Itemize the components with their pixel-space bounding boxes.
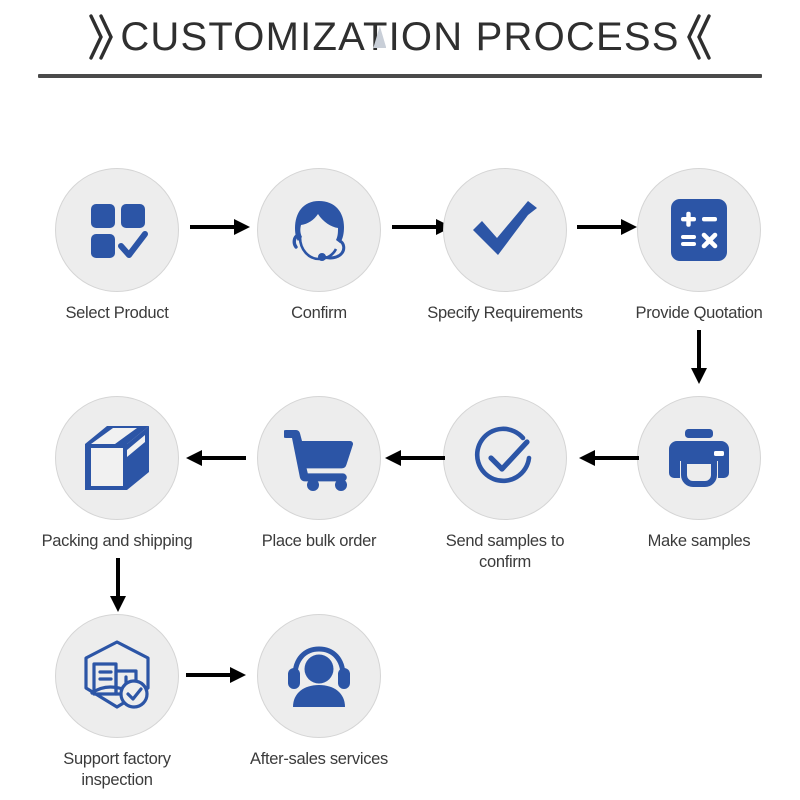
flow-step-packing-and-shipping[interactable]: Packing and shipping — [32, 396, 202, 552]
step-label: Provide Quotation — [614, 303, 784, 324]
step-icon-bubble — [55, 168, 179, 292]
process-flow-diagram: Select Product Confirm — [0, 0, 800, 800]
step-label: Make samples — [614, 531, 784, 552]
step-icon-bubble — [55, 396, 179, 520]
package-box-icon — [81, 424, 153, 492]
flow-step-specify-requirements[interactable]: Specify Requirements — [420, 168, 590, 324]
step-label: Confirm — [234, 303, 404, 324]
connector-arrow-down — [688, 330, 710, 386]
flow-step-confirm[interactable]: Confirm — [234, 168, 404, 324]
step-icon-bubble — [637, 168, 761, 292]
step-label: Send samples to confirm — [420, 531, 590, 573]
step-label: Specify Requirements — [420, 303, 590, 324]
step-icon-bubble — [257, 168, 381, 292]
step-icon-bubble — [443, 168, 567, 292]
flow-step-support-factory-inspection[interactable]: Support factory inspection — [32, 614, 202, 791]
shopping-cart-icon — [284, 425, 354, 491]
step-icon-bubble — [443, 396, 567, 520]
step-icon-bubble — [257, 396, 381, 520]
step-label: Support factory inspection — [32, 749, 202, 791]
step-label: Packing and shipping — [32, 531, 202, 552]
flow-step-make-samples[interactable]: Make samples — [614, 396, 784, 552]
step-label: Place bulk order — [234, 531, 404, 552]
step-icon-bubble — [55, 614, 179, 738]
step-icon-bubble — [637, 396, 761, 520]
flow-step-provide-quotation[interactable]: Provide Quotation — [614, 168, 784, 324]
step-icon-bubble — [257, 614, 381, 738]
connector-arrow-down — [107, 558, 129, 614]
flow-step-after-sales-services[interactable]: After-sales services — [234, 614, 404, 770]
factory-shield-check-icon — [80, 639, 154, 713]
checkmark-icon — [470, 199, 540, 261]
headset-agent-icon — [286, 197, 352, 263]
circle-check-icon — [469, 422, 541, 494]
flow-step-send-samples-to-confirm[interactable]: Send samples to confirm — [420, 396, 590, 573]
support-person-icon — [282, 643, 356, 709]
printer-icon — [664, 427, 734, 489]
grid-squares-check-icon — [85, 198, 149, 262]
flow-step-select-product[interactable]: Select Product — [32, 168, 202, 324]
step-label: After-sales services — [234, 749, 404, 770]
flow-step-place-bulk-order[interactable]: Place bulk order — [234, 396, 404, 552]
step-label: Select Product — [32, 303, 202, 324]
calculator-icon — [668, 196, 730, 264]
